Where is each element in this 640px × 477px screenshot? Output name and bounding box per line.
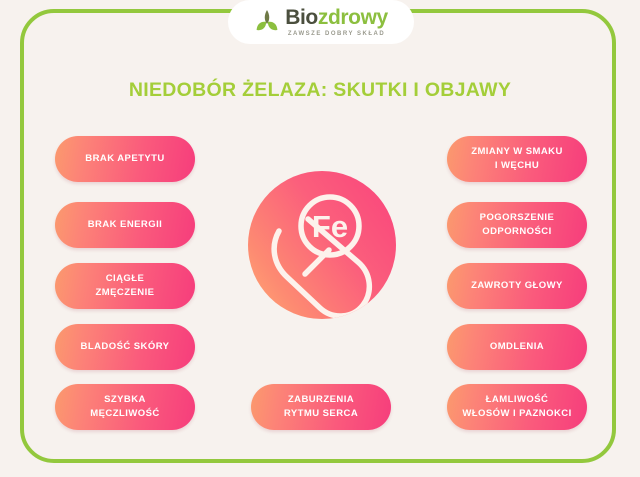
symptom-label-line2: ODPORNOŚCI (480, 225, 555, 239)
logo-text-block: Biozdrowy ZAWSZE DOBRY SKŁAD (285, 7, 388, 37)
symptom-label-line1: CIĄGŁE (96, 272, 155, 286)
logo-tagline: ZAWSZE DOBRY SKŁAD (288, 31, 385, 37)
leaf-icon (254, 8, 280, 36)
symptom-label: BLADOŚĆ SKÓRY (81, 340, 170, 354)
brand-logo: Biozdrowy ZAWSZE DOBRY SKŁAD (228, 0, 414, 44)
symptom-label-line2: WŁOSÓW I PAZNOKCI (462, 407, 571, 421)
symptom-label-line1: ZMIANY W SMAKU (471, 145, 563, 159)
logo-word-zdrowy: zdrowy (318, 6, 388, 29)
infographic-canvas: Biozdrowy ZAWSZE DOBRY SKŁAD NIEDOBÓR ŻE… (0, 0, 640, 477)
symptom-label: BRAK APETYTU (85, 152, 164, 166)
symptom-pill-ciagle-zmeczenie[interactable]: CIĄGŁE ZMĘCZENIE (55, 263, 195, 309)
logo-wordmark: Biozdrowy (285, 7, 388, 28)
symptom-pill-zaburzenia-rytmu-serca[interactable]: ZABURZENIA RYTMU SERCA (251, 384, 391, 430)
symptom-pill-bladosc-skory[interactable]: BLADOŚĆ SKÓRY (55, 324, 195, 370)
symptom-label-line2: RYTMU SERCA (284, 407, 358, 421)
symptom-pill-lamliwosc-wlosow-i-paznokci[interactable]: ŁAMLIWOŚĆ WŁOSÓW I PAZNOKCI (447, 384, 587, 430)
symptom-pill-brak-apetytu[interactable]: BRAK APETYTU (55, 136, 195, 182)
symptom-label-line1: ZABURZENIA (284, 393, 358, 407)
symptom-label-line2: MĘCZLIWOŚĆ (90, 407, 159, 421)
symptom-pill-omdlenia[interactable]: OMDLENIA (447, 324, 587, 370)
symptom-pill-pogorszenie-odpornosci[interactable]: POGORSZENIE ODPORNOŚCI (447, 202, 587, 248)
symptom-label-line1: SZYBKA (90, 393, 159, 407)
symptom-label: BRAK ENERGII (88, 218, 163, 232)
symptom-label-line2: ZMĘCZENIE (96, 286, 155, 300)
center-emblem: Fe (248, 171, 396, 319)
logo-word-bio: Bio (285, 6, 318, 29)
symptom-label-line1: POGORSZENIE (480, 211, 555, 225)
page-title: NIEDOBÓR ŻELAZA: SKUTKI I OBJAWY (0, 79, 640, 102)
symptom-label-line1: ŁAMLIWOŚĆ (462, 393, 571, 407)
symptom-label-line2: I WĘCHU (471, 159, 563, 173)
symptom-pill-zawroty-glowy[interactable]: ZAWROTY GŁOWY (447, 263, 587, 309)
symptom-pill-zmiany-w-smaku-i-wechu[interactable]: ZMIANY W SMAKU I WĘCHU (447, 136, 587, 182)
symptom-label: ZAWROTY GŁOWY (471, 279, 563, 293)
symptom-label: OMDLENIA (490, 340, 544, 354)
symptom-pill-szybka-meczliwosc[interactable]: SZYBKA MĘCZLIWOŚĆ (55, 384, 195, 430)
symptom-pill-brak-energii[interactable]: BRAK ENERGII (55, 202, 195, 248)
capsule-magnifier-icon: Fe (248, 171, 396, 319)
element-symbol-fe: Fe (312, 209, 348, 244)
